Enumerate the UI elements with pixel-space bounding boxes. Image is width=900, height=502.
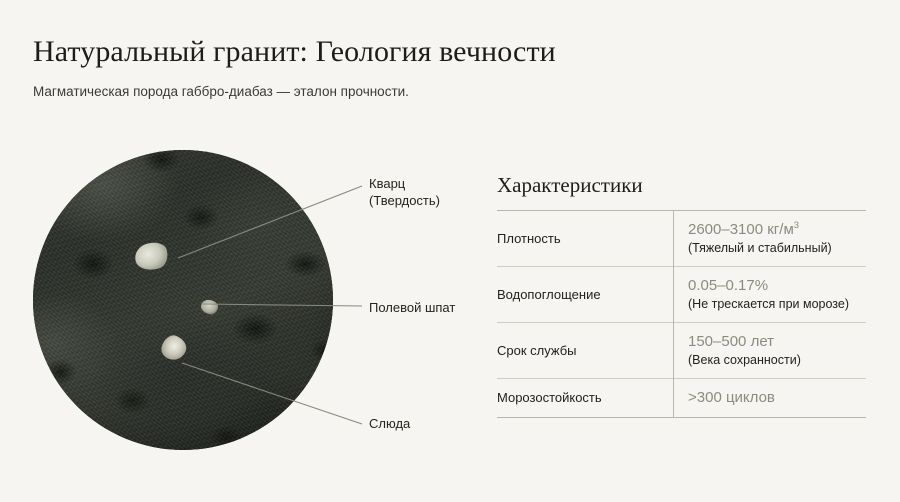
table-row: Срок службы 150–500 лет (Века сохранност…	[497, 323, 866, 379]
table-row: Плотность 2600–3100 кг/м3 (Тяжелый и ста…	[497, 211, 866, 267]
spec-note-water-absorption: (Не трескается при морозе)	[688, 296, 866, 313]
specifications-panel: Характеристики Плотность 2600–3100 кг/м3…	[497, 172, 866, 418]
spec-primary-frost-resistance-text: >300 циклов	[688, 389, 775, 406]
granite-sample-image	[33, 150, 333, 450]
spec-name-density: Плотность	[497, 211, 674, 267]
callout-mica-line1: Слюда	[369, 415, 410, 432]
page-subtitle: Магматическая порода габбро-диабаз — эта…	[33, 83, 853, 101]
header: Натуральный гранит: Геология вечности Ма…	[33, 33, 853, 101]
callout-quartz-line2: (Твердость)	[369, 192, 440, 209]
callout-quartz-line1: Кварц	[369, 175, 440, 192]
spec-name-service-life: Срок службы	[497, 323, 674, 379]
spec-primary-density: 2600–3100 кг/м3	[688, 220, 866, 240]
spec-value-service-life: 150–500 лет (Века сохранности)	[674, 323, 867, 379]
spec-value-density: 2600–3100 кг/м3 (Тяжелый и стабильный)	[674, 211, 867, 267]
spec-primary-density-text: 2600–3100 кг/м	[688, 221, 794, 238]
spec-note-density: (Тяжелый и стабильный)	[688, 240, 866, 257]
callout-label-quartz: Кварц (Твердость)	[369, 175, 440, 209]
spec-name-water-absorption: Водопоглощение	[497, 267, 674, 323]
spec-value-water-absorption: 0.05–0.17% (Не трескается при морозе)	[674, 267, 867, 323]
table-row: Морозостойкость >300 циклов	[497, 379, 866, 418]
page-title: Натуральный гранит: Геология вечности	[33, 33, 853, 71]
specifications-table: Плотность 2600–3100 кг/м3 (Тяжелый и ста…	[497, 210, 866, 418]
spec-primary-water-absorption-text: 0.05–0.17%	[688, 277, 768, 294]
granite-vignette	[33, 150, 333, 450]
spec-value-frost-resistance: >300 циклов	[674, 379, 867, 418]
table-row: Водопоглощение 0.05–0.17% (Не трескается…	[497, 267, 866, 323]
spec-primary-service-life: 150–500 лет	[688, 332, 866, 352]
spec-note-service-life: (Века сохранности)	[688, 352, 866, 369]
callout-feldspar-line1: Полевой шпат	[369, 299, 455, 316]
spec-primary-frost-resistance: >300 циклов	[688, 388, 866, 408]
specimen-figure	[33, 150, 333, 450]
spec-primary-water-absorption: 0.05–0.17%	[688, 276, 866, 296]
spec-primary-service-life-text: 150–500 лет	[688, 333, 774, 350]
granite-infographic-page: Натуральный гранит: Геология вечности Ма…	[0, 0, 900, 502]
callout-label-mica: Слюда	[369, 415, 410, 432]
spec-name-frost-resistance: Морозостойкость	[497, 379, 674, 418]
spec-primary-density-sup: 3	[794, 220, 799, 231]
callout-label-feldspar: Полевой шпат	[369, 299, 455, 316]
specifications-title: Характеристики	[497, 172, 866, 198]
